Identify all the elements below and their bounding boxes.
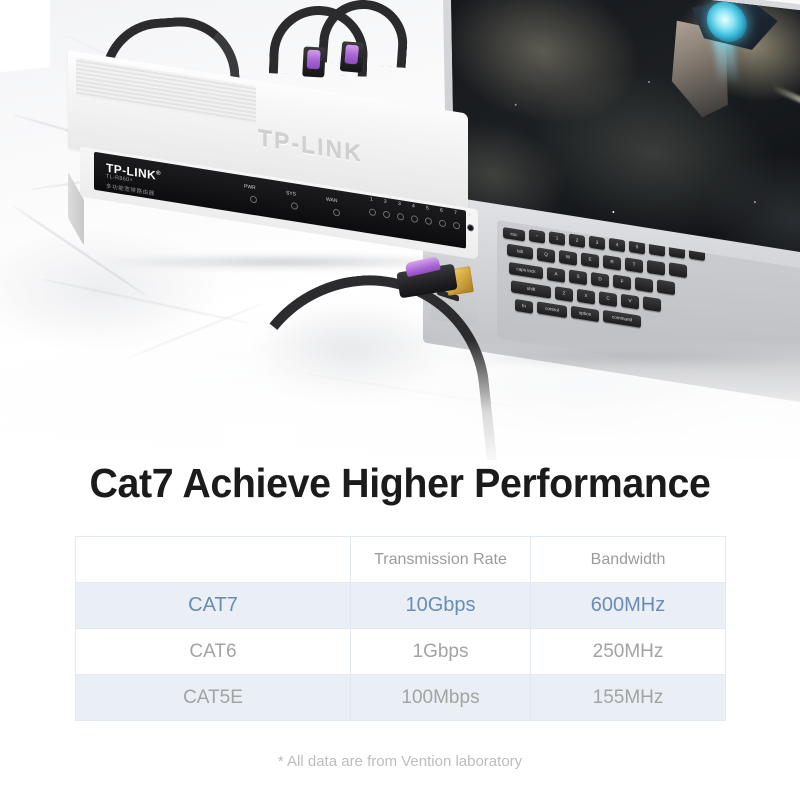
key-control[interactable]: control <box>537 301 567 318</box>
led-label-pwr: PWR <box>244 183 256 191</box>
key-1[interactable]: 1 <box>549 231 565 246</box>
key-tilde[interactable]: ~ <box>529 229 545 244</box>
led-indicator-wan <box>333 209 340 217</box>
key-2[interactable]: 2 <box>569 233 585 248</box>
product-infographic: esc ~ 1 2 3 4 5 tab Q W E R T <box>0 0 800 800</box>
key-5[interactable]: 5 <box>629 240 645 255</box>
led-indicator-pwr <box>250 195 257 203</box>
key-fn[interactable]: fn <box>515 299 533 314</box>
spec-comparison-table: Transmission Rate Bandwidth CAT7 10Gbps … <box>75 536 726 721</box>
led-indicator-port-3 <box>397 213 404 221</box>
column-header-category <box>76 537 351 583</box>
column-header-bandwidth: Bandwidth <box>531 537 726 583</box>
key-7[interactable] <box>669 244 685 259</box>
key-option[interactable]: option <box>571 306 599 322</box>
cell-bandwidth: 250MHz <box>531 629 726 675</box>
cell-bandwidth: 155MHz <box>531 675 726 721</box>
key-b[interactable] <box>643 296 661 312</box>
table-row: CAT7 10Gbps 600MHz <box>76 583 726 629</box>
led-indicator-port-7 <box>453 222 460 230</box>
starship-graphic <box>656 0 776 130</box>
key-y[interactable] <box>647 260 665 276</box>
led-indicator-port-1 <box>369 208 376 216</box>
port-number-2: 2 <box>384 199 387 205</box>
key-h[interactable] <box>657 279 675 295</box>
cell-transmission-rate: 10Gbps <box>351 583 531 629</box>
key-z[interactable]: Z <box>555 286 573 302</box>
led-indicator-port-4 <box>411 215 418 223</box>
key-esc[interactable]: esc <box>503 227 525 241</box>
led-indicator-port-5 <box>425 217 432 225</box>
port-number-4: 4 <box>412 203 415 209</box>
key-q[interactable]: Q <box>537 247 555 263</box>
table-header: Transmission Rate Bandwidth <box>76 537 726 583</box>
cell-bandwidth: 600MHz <box>531 583 726 629</box>
key-w[interactable]: W <box>559 250 577 266</box>
key-v[interactable]: V <box>621 294 639 310</box>
router-subtitle-cn: 多功能宽带路由器 <box>106 182 155 198</box>
tp-link-router: TP-LINK TP-LINK® TL-R860+ 多功能宽带路由器 PWR S… <box>68 82 488 262</box>
rj45-connector <box>302 46 326 77</box>
router-embossed-brand: TP-LINK <box>258 124 363 168</box>
table-header-row: Transmission Rate Bandwidth <box>76 537 726 583</box>
background-wall <box>0 0 50 73</box>
key-3[interactable]: 3 <box>589 236 605 251</box>
key-command[interactable]: command <box>603 310 641 328</box>
registered-mark-icon: ® <box>156 171 161 178</box>
led-indicator-port-6 <box>439 219 446 227</box>
rj45-connector <box>340 41 365 73</box>
port-number-8: 8 <box>468 212 471 218</box>
key-s[interactable]: S <box>569 269 587 285</box>
star <box>648 81 650 83</box>
content-panel: Cat7 Achieve Higher Performance Transmis… <box>0 460 800 800</box>
table-row: CAT6 1Gbps 250MHz <box>76 629 726 675</box>
port-number-5: 5 <box>426 205 429 211</box>
led-label-wan: WAN <box>326 196 337 204</box>
cell-category: CAT7 <box>76 583 351 629</box>
product-photo: esc ~ 1 2 3 4 5 tab Q W E R T <box>0 0 800 470</box>
key-e[interactable]: E <box>581 252 599 268</box>
key-x[interactable]: X <box>577 289 595 305</box>
port-number-1: 1 <box>370 196 373 202</box>
key-tab[interactable]: tab <box>507 244 533 260</box>
photo-white-fade <box>0 340 800 470</box>
led-indicator-port-8 <box>467 224 474 232</box>
table-row: CAT5E 100Mbps 155MHz <box>76 675 726 721</box>
key-f[interactable]: F <box>613 274 631 290</box>
key-u[interactable] <box>669 262 687 278</box>
table-footnote: * All data are from Vention laboratory <box>0 753 800 770</box>
connector-latch <box>344 44 359 64</box>
key-caps-lock[interactable]: caps lock <box>509 262 543 279</box>
key-t[interactable]: T <box>625 257 643 273</box>
cell-transmission-rate: 100Mbps <box>351 675 531 721</box>
key-4[interactable]: 4 <box>609 238 625 253</box>
star <box>515 104 517 106</box>
column-header-transmission-rate: Transmission Rate <box>351 537 531 583</box>
table-body: CAT7 10Gbps 600MHz CAT6 1Gbps 250MHz CAT… <box>76 583 726 721</box>
key-c[interactable]: C <box>599 291 617 307</box>
key-r[interactable]: R <box>603 255 621 271</box>
port-number-3: 3 <box>398 201 401 207</box>
star <box>754 201 756 203</box>
cell-category: CAT6 <box>76 629 351 675</box>
key-shift[interactable]: shift <box>511 280 551 298</box>
key-6[interactable] <box>649 242 665 257</box>
led-indicator-port-2 <box>383 210 390 218</box>
star <box>612 211 614 213</box>
page-title: Cat7 Achieve Higher Performance <box>16 460 784 507</box>
cell-category: CAT5E <box>76 675 351 721</box>
port-number-7: 7 <box>454 210 457 216</box>
key-a[interactable]: A <box>547 267 565 283</box>
led-label-sys: SYS <box>286 190 296 198</box>
key-8[interactable] <box>689 246 705 261</box>
connector-latch <box>307 50 321 70</box>
led-indicator-sys <box>291 202 298 210</box>
key-g[interactable] <box>635 277 653 293</box>
key-d[interactable]: D <box>591 272 609 288</box>
cell-transmission-rate: 1Gbps <box>351 629 531 675</box>
port-number-6: 6 <box>440 207 443 213</box>
